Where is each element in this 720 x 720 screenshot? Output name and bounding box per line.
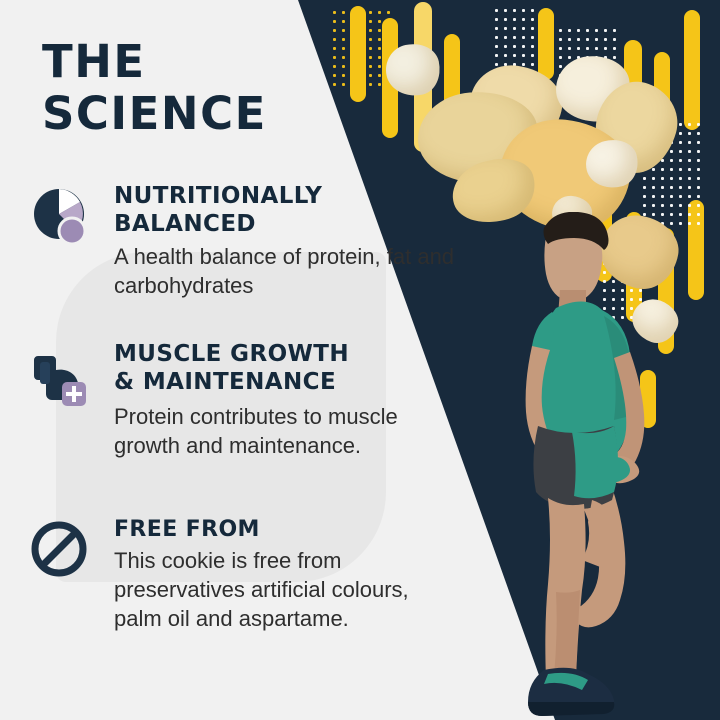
feature-title-line-1: NUTRITIONALLY bbox=[114, 183, 322, 209]
feature-title-line-1: FREE FROM bbox=[114, 517, 260, 542]
flexed-biceps-icon bbox=[28, 342, 94, 408]
feature-title-line-2: & MAINTENANCE bbox=[114, 369, 336, 395]
feature-description: Protein contributes to muscle growth and… bbox=[114, 402, 458, 460]
headline-line-2: SCIENCE bbox=[42, 88, 267, 140]
feature-title: MUSCLE GROWTH & MAINTENANCE bbox=[114, 340, 458, 396]
feature-title: FREE FROM bbox=[114, 516, 458, 544]
pie-chart-icon bbox=[28, 184, 94, 250]
feature-title-line-2: BALANCED bbox=[114, 211, 256, 237]
decor-bar bbox=[538, 8, 554, 80]
feature-muscle-growth: MUSCLE GROWTH & MAINTENANCE Protein cont… bbox=[28, 340, 458, 460]
dot-grid bbox=[492, 6, 536, 68]
feature-title: NUTRITIONALLY BALANCED bbox=[114, 182, 458, 238]
feature-description: A health balance of protein, fat and car… bbox=[114, 242, 458, 300]
feature-free-from: FREE FROM This cookie is free from prese… bbox=[28, 516, 458, 633]
athlete-stretching-photo bbox=[452, 212, 720, 720]
decor-bar bbox=[684, 10, 700, 130]
headline-line-1: THE bbox=[42, 35, 146, 88]
dot-grid bbox=[330, 8, 390, 88]
feature-nutritionally-balanced: NUTRITIONALLY BALANCED A health balance … bbox=[28, 182, 458, 300]
feature-description: This cookie is free from preservatives a… bbox=[114, 546, 458, 633]
poster-canvas: THE SCIENCE NUTRITIONALLY BALANCED A hea… bbox=[0, 0, 720, 720]
feature-body: FREE FROM This cookie is free from prese… bbox=[114, 516, 458, 633]
page-title: THE SCIENCE bbox=[42, 36, 267, 140]
feature-body: NUTRITIONALLY BALANCED A health balance … bbox=[114, 182, 458, 300]
feature-title-line-1: MUSCLE GROWTH bbox=[114, 341, 349, 367]
prohibition-icon bbox=[28, 518, 94, 584]
feature-body: MUSCLE GROWTH & MAINTENANCE Protein cont… bbox=[114, 340, 458, 460]
